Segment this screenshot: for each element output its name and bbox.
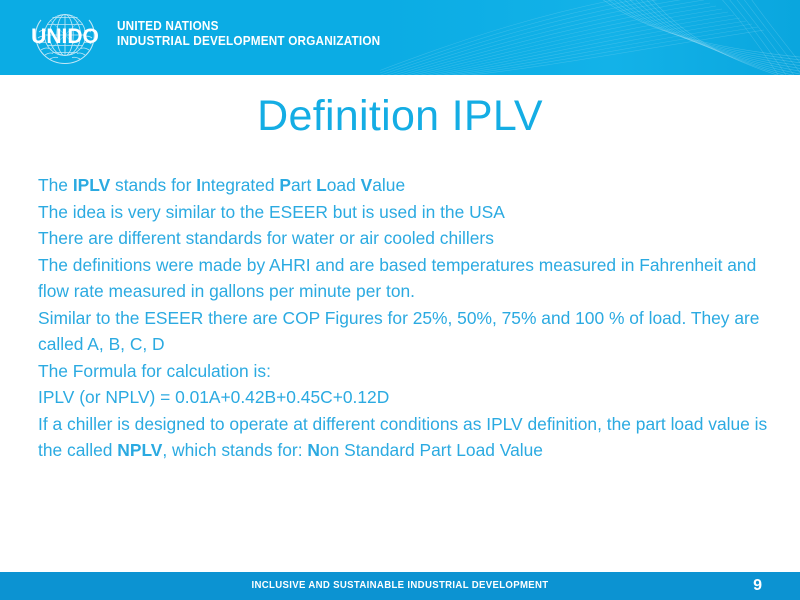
org-name-line-1: UNITED NATIONS bbox=[117, 19, 380, 34]
footer-tagline: INCLUSIVE AND SUSTAINABLE INDUSTRIAL DEV… bbox=[16, 572, 784, 600]
slide-header-band: UNIDO UNITED NATIONS INDUSTRIAL DEVELOPM… bbox=[0, 0, 800, 75]
slide-footer-band: INCLUSIVE AND SUSTAINABLE INDUSTRIAL DEV… bbox=[0, 572, 800, 600]
body-paragraph: The definitions were made by AHRI and ar… bbox=[38, 252, 773, 305]
slide-body-text: The IPLV stands for Integrated Part Load… bbox=[38, 172, 773, 464]
body-paragraph: If a chiller is designed to operate at d… bbox=[38, 411, 773, 464]
body-paragraph: The Formula for calculation is: bbox=[38, 358, 773, 385]
header-decorative-waves bbox=[380, 0, 800, 75]
organization-name: UNITED NATIONS INDUSTRIAL DEVELOPMENT OR… bbox=[117, 19, 397, 49]
unido-logo: UNIDO bbox=[22, 8, 108, 68]
unido-wordmark: UNIDO bbox=[31, 25, 99, 48]
body-paragraph: The idea is very similar to the ESEER bu… bbox=[38, 199, 773, 226]
body-paragraph: The IPLV stands for Integrated Part Load… bbox=[38, 172, 773, 199]
body-paragraph: There are different standards for water … bbox=[38, 225, 773, 252]
org-name-line-2: INDUSTRIAL DEVELOPMENT ORGANIZATION bbox=[117, 34, 380, 49]
body-paragraph-formula: IPLV (or NPLV) = 0.01A+0.42B+0.45C+0.12D bbox=[38, 384, 773, 411]
body-paragraph: Similar to the ESEER there are COP Figur… bbox=[38, 305, 773, 358]
page-number: 9 bbox=[753, 572, 762, 600]
slide-title: Definition IPLV bbox=[0, 92, 800, 141]
